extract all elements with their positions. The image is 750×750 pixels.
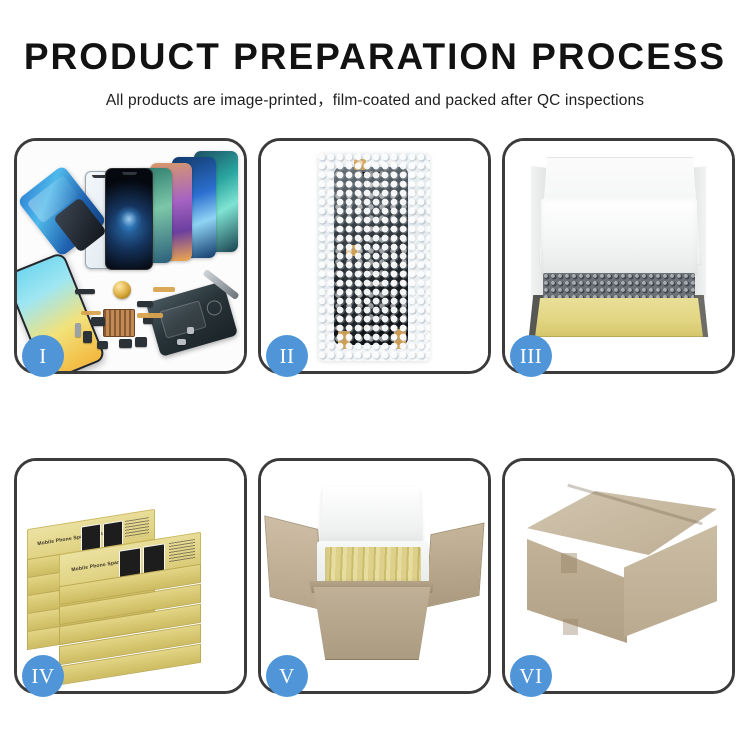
box-front-kraft (535, 298, 703, 337)
phone-housing-disassembled (146, 281, 238, 357)
carton-flap-right (426, 523, 485, 608)
step-badge-5: V (266, 655, 308, 697)
step-badge-2: II (266, 335, 308, 377)
phone-screen-black-main (105, 168, 153, 270)
carton-tape-patch (563, 619, 578, 635)
copper-grid-board-part (103, 309, 135, 337)
bubble-wrap-layer (543, 273, 695, 300)
foam-sheet (541, 199, 697, 275)
bubble-texture-highlight (318, 153, 430, 361)
step-badge-3: III (510, 335, 552, 377)
process-step-grid: I II (14, 138, 736, 694)
spare-part-chip (83, 331, 92, 343)
spare-part-chip (187, 327, 194, 334)
spare-part-chip (75, 323, 81, 337)
spare-part-chip (177, 339, 186, 345)
flex-cable-part (153, 287, 175, 292)
gold-coil-part (113, 281, 131, 299)
spare-part-chip (97, 341, 108, 349)
spare-part-chip (135, 337, 147, 347)
step-panel-1-parts: I (14, 138, 247, 374)
spare-part-chip (143, 317, 153, 324)
spare-part-chip (91, 317, 105, 326)
packed-kraft-boxes (325, 547, 421, 585)
bubble-wrap-pouch (318, 153, 430, 361)
step-panel-6-sealed-carton: VI (502, 458, 735, 694)
spare-part-chip (137, 301, 153, 307)
page-title: PRODUCT PREPARATION PROCESS (0, 38, 750, 77)
step-badge-1: I (22, 335, 64, 377)
page-subtitle: All products are image-printed，film-coat… (0, 88, 750, 110)
spare-part-chip (119, 339, 132, 348)
page-header: PRODUCT PREPARATION PROCESS All products… (0, 0, 750, 110)
kraft-box (59, 655, 199, 672)
step-panel-2-bubble-wrap: II (258, 138, 491, 374)
step-panel-5-carton-packing: V (258, 458, 491, 694)
step-badge-6: VI (510, 655, 552, 697)
step-panel-4-box-stack: Mobile Phone Spare Parts (14, 458, 247, 694)
carton-body (307, 587, 437, 660)
flex-cable-part (81, 311, 101, 315)
box-label-specs (169, 539, 195, 563)
carton-flap-left (264, 515, 323, 610)
spare-part-chip (75, 289, 95, 294)
box-label-specs (125, 517, 149, 539)
step-badge-4: IV (22, 655, 64, 697)
kraft-box-stack: Mobile Phone Spare Parts (23, 481, 243, 681)
flex-cable-part (137, 313, 163, 318)
carton-tape-patch (561, 553, 577, 573)
notch-icon (122, 172, 137, 175)
foam-cooler-lid (319, 487, 423, 547)
step-panel-3-inner-box: III (502, 138, 735, 374)
